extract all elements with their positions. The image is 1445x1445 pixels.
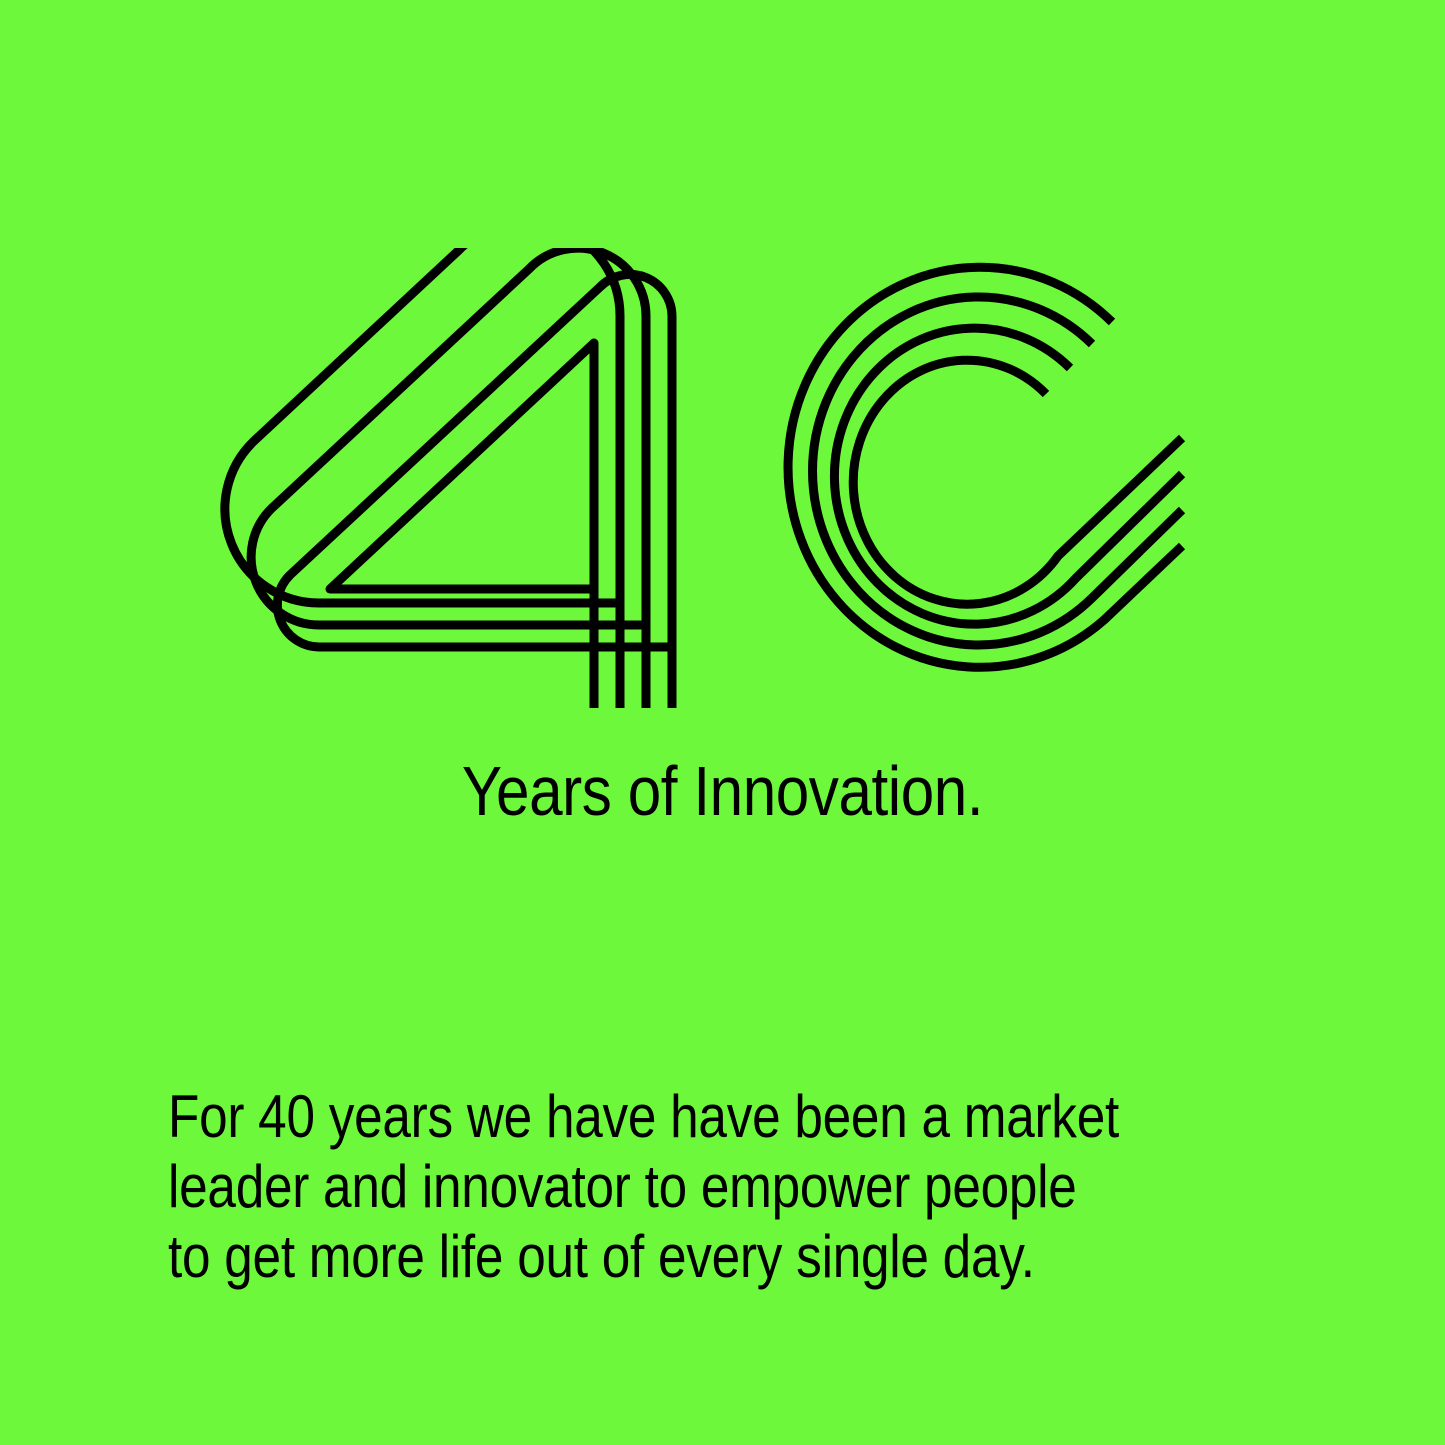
body-line-1: For 40 years we have have been a market — [168, 1082, 1160, 1152]
anniversary-poster: Years of Innovation. For 40 years we hav… — [0, 0, 1445, 1445]
logo-40-container — [0, 248, 1445, 718]
body-line-2: leader and innovator to empower people — [168, 1152, 1160, 1222]
logo-40-svg — [0, 248, 1445, 718]
page-title: Years of Innovation. — [101, 752, 1344, 830]
body-copy: For 40 years we have have been a market … — [168, 1082, 1328, 1292]
body-line-3: to get more life out of every single day… — [168, 1222, 1160, 1292]
